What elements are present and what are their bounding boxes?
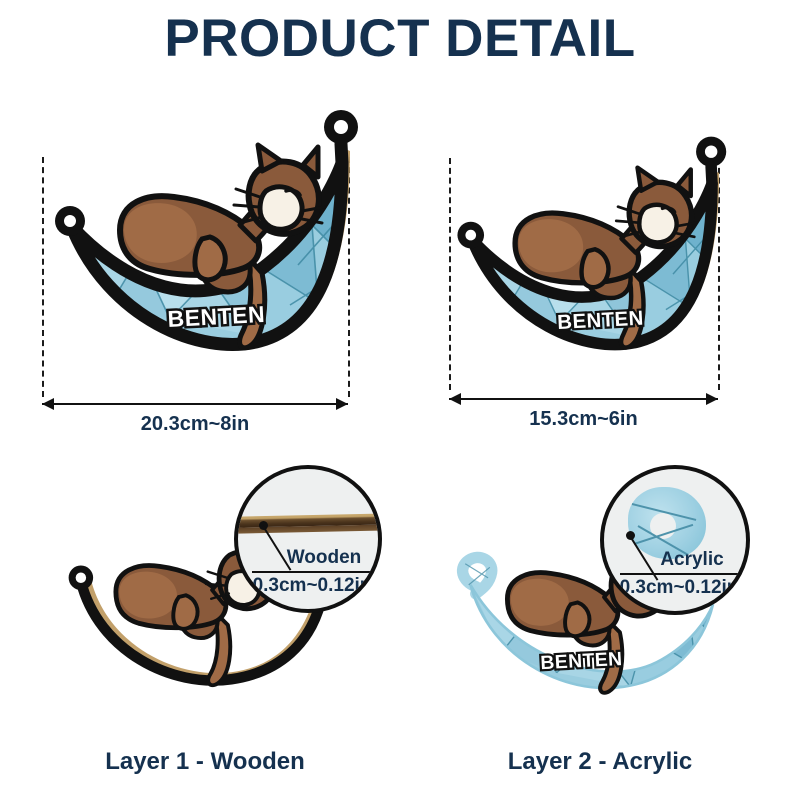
- layer-card-acrylic: BENTEN Acrylic 0.3cm~0.12in Layer 2 - Ac…: [430, 555, 770, 785]
- page-title: PRODUCT DETAIL: [164, 12, 635, 65]
- label-underline: [620, 573, 742, 575]
- magnifier-acrylic[interactable]: Acrylic 0.3cm~0.12in: [600, 465, 750, 615]
- product-card-large: BENTEN 20.3cm~8in: [28, 105, 378, 445]
- dimension-guide-left: [42, 157, 44, 397]
- material-label-wooden: Wooden: [238, 547, 382, 569]
- thickness-label-wooden: 0.3cm~0.12in: [238, 575, 382, 597]
- dimension-arrow-left: [42, 398, 54, 410]
- material-label-acrylic: Acrylic: [604, 549, 750, 571]
- dimension-guide-left: [449, 158, 451, 390]
- dimension-arrow-left: [449, 393, 461, 405]
- product-image-large[interactable]: BENTEN: [50, 105, 360, 365]
- layer-caption-acrylic: Layer 2 - Acrylic: [430, 748, 770, 776]
- dimension-arrow-right: [336, 398, 348, 410]
- product-card-small: BENTEN 15.3cm~6in: [435, 130, 765, 450]
- label-underline: [252, 571, 374, 573]
- layer-card-wooden: Wooden 0.3cm~0.12in Layer 1 - Wooden: [40, 555, 370, 785]
- magnifier-wooden[interactable]: Wooden 0.3cm~0.12in: [234, 465, 382, 613]
- hanging-hole-left: [457, 222, 484, 249]
- hanging-hole-left: [69, 566, 94, 591]
- layer-caption-wooden: Layer 1 - Wooden: [40, 748, 370, 776]
- dimension-row-large: 20.3cm~8in: [42, 397, 348, 411]
- hanging-hole-left: [55, 206, 85, 236]
- product-image-small[interactable]: BENTEN: [453, 130, 728, 365]
- dimension-label-large: 20.3cm~8in: [42, 413, 348, 436]
- personalized-name-small: BENTEN: [557, 308, 645, 334]
- hanging-hole-top: [696, 137, 726, 184]
- hanging-hole-top: [324, 110, 358, 163]
- dimension-arrow-right: [706, 393, 718, 405]
- dimension-row-small: 15.3cm~6in: [449, 392, 718, 406]
- hanging-loop-acrylic: [463, 557, 492, 593]
- page-header: PRODUCT DETAIL: [0, 0, 800, 76]
- dimension-label-small: 15.3cm~6in: [449, 408, 718, 431]
- personalized-name-large: BENTEN: [167, 301, 266, 332]
- thickness-label-acrylic: 0.3cm~0.12in: [604, 577, 750, 599]
- personalized-name-acrylic: BENTEN: [540, 649, 623, 674]
